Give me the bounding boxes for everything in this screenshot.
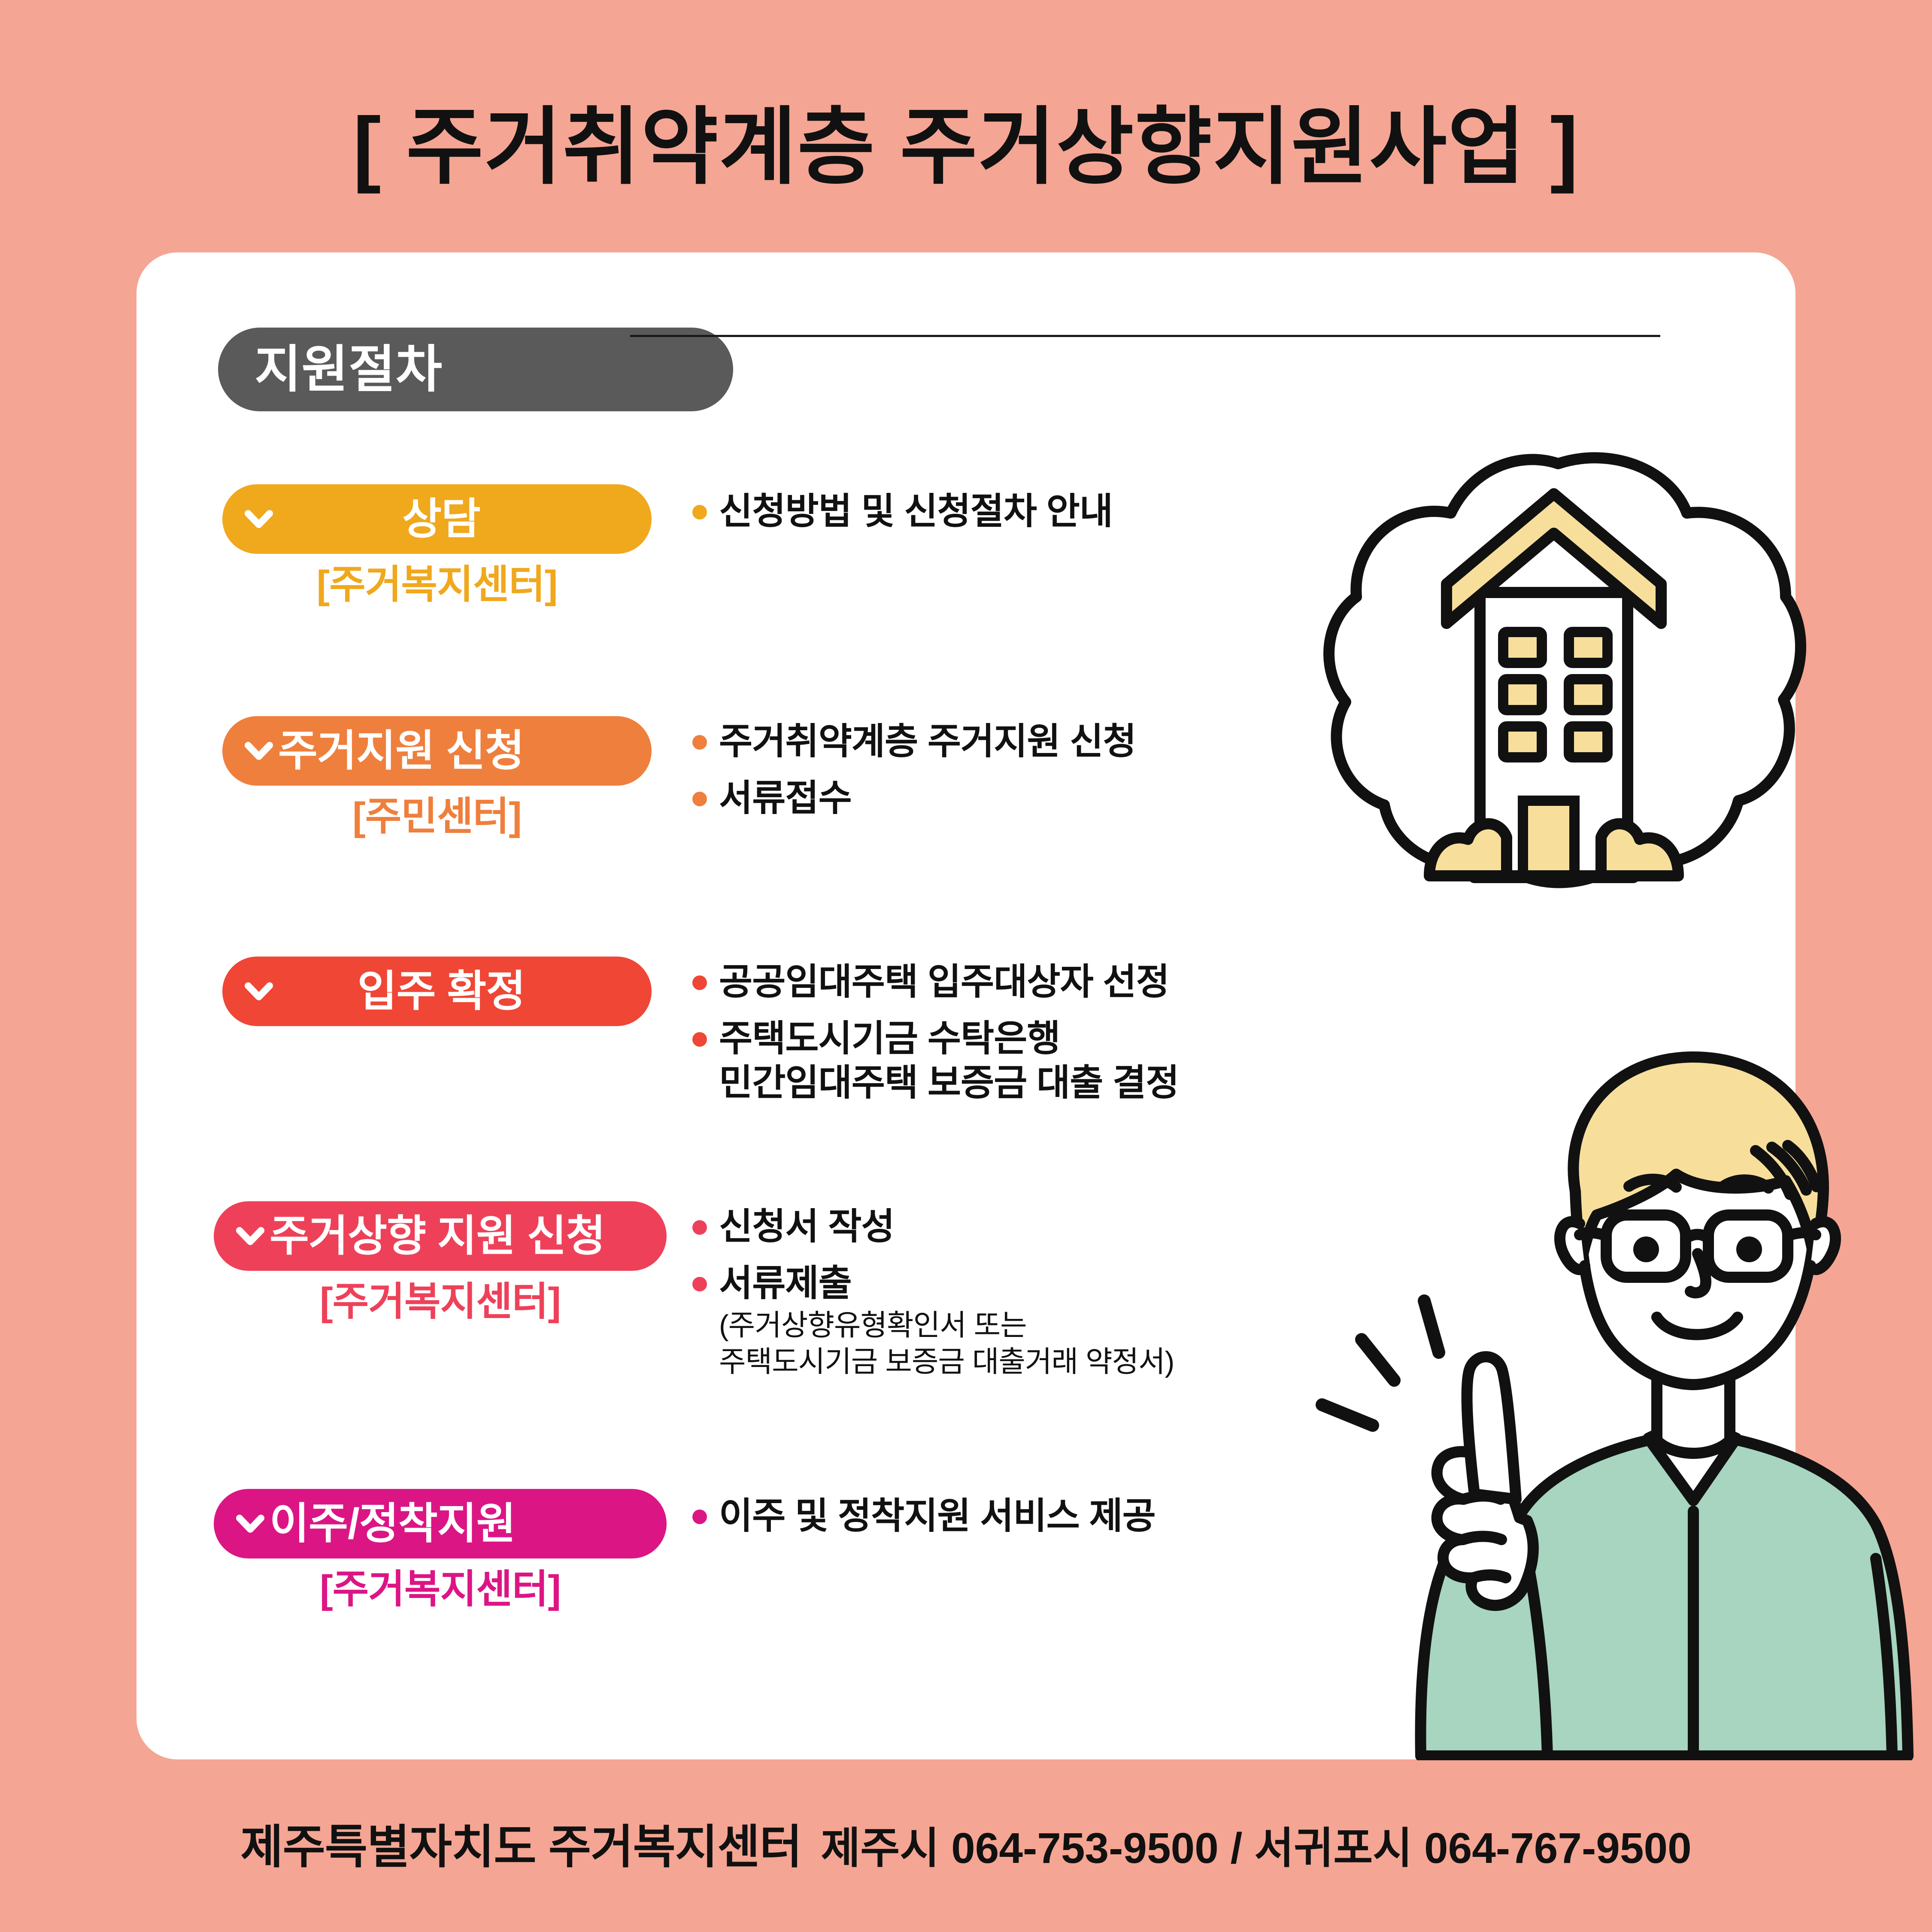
page-title-text: [ 주거취약계층 주거상향지원사업 ] xyxy=(353,105,1579,189)
step-2-label: 주거지원 신청 xyxy=(278,729,524,772)
step-4-left: 주거상향 지원 신청 [주거복지센터] xyxy=(214,1201,667,1321)
page-title: [ 주거취약계층 주거상향지원사업 ] xyxy=(0,105,1932,189)
bullet-text: 주거취약계층 주거지원 신청 xyxy=(719,720,1136,764)
chevron-down-icon xyxy=(245,737,273,765)
step-1-sublabel: [주거복지센터] xyxy=(222,565,652,605)
step-1-label: 상담 xyxy=(278,498,604,541)
step-2-left: 주거지원 신청 [주민센터] xyxy=(222,716,652,836)
step-2-pill[interactable]: 주거지원 신청 xyxy=(222,716,652,786)
bullet-text: 공공임대주택 입주대상자 선정 xyxy=(719,960,1169,1005)
bullet-text: 서류접수 xyxy=(719,776,852,821)
step-2-sublabel: [주민센터] xyxy=(222,797,652,836)
bullet-dot-icon xyxy=(692,975,707,990)
step-1-left: 상담 [주거복지센터] xyxy=(222,484,652,605)
footer-contacts: 제주시 064-753-9500 / 서귀포시 064-767-9500 xyxy=(821,1824,1691,1872)
bullet-dot-icon xyxy=(692,735,707,750)
chevron-down-icon xyxy=(245,977,273,1005)
chevron-down-icon xyxy=(236,1222,264,1250)
step-5-label: 이주/정착지원 xyxy=(270,1502,516,1545)
chevron-down-icon xyxy=(236,1510,264,1538)
chevron-down-icon xyxy=(245,505,273,533)
step-5-left: 이주/정착지원 [주거복지센터] xyxy=(214,1489,667,1609)
bullet-dot-icon xyxy=(692,505,707,519)
bullet-dot-icon xyxy=(692,1220,707,1235)
bullet-text: 서류제출 xyxy=(719,1263,852,1304)
step-1-pill[interactable]: 상담 xyxy=(222,484,652,554)
bullet-dot-icon xyxy=(692,1277,707,1291)
bullet-text: 신청서 작성 xyxy=(719,1205,895,1249)
step-5-pill[interactable]: 이주/정착지원 xyxy=(214,1489,667,1558)
thought-bubble-house-illustration xyxy=(1301,438,1807,906)
step-5-sublabel: [주거복지센터] xyxy=(214,1570,667,1609)
step-4-pill[interactable]: 주거상향 지원 신청 xyxy=(214,1201,667,1271)
bullet-dot-icon xyxy=(692,792,707,806)
bullet-dot-icon xyxy=(692,1510,707,1524)
bullet-text: 주택도시기금 수탁은행 민간임대주택 보증금 대출 결정 xyxy=(719,1017,1179,1106)
step-4-label: 주거상향 지원 신청 xyxy=(270,1215,605,1258)
step-3-left: 입주 확정 xyxy=(222,957,652,1037)
footer: 제주특별자치도 주거복지센터 제주시 064-753-9500 / 서귀포시 0… xyxy=(0,1810,1932,1877)
step-3-label: 입주 확정 xyxy=(278,970,604,1013)
bullet-dot-icon xyxy=(692,1032,707,1047)
step-4-sublabel: [주거복지센터] xyxy=(214,1282,667,1321)
bullet-text: 신청방법 및 신청절차 안내 xyxy=(719,489,1113,534)
step-3-pill[interactable]: 입주 확정 xyxy=(222,957,652,1026)
footer-organization: 제주특별자치도 주거복지센터 xyxy=(240,1821,802,1873)
bullet-text: 이주 및 정착지원 서비스 제공 xyxy=(719,1494,1156,1539)
bullet-block: 서류제출 xyxy=(719,1261,852,1306)
man-pointing-up-illustration xyxy=(1279,957,1932,1760)
